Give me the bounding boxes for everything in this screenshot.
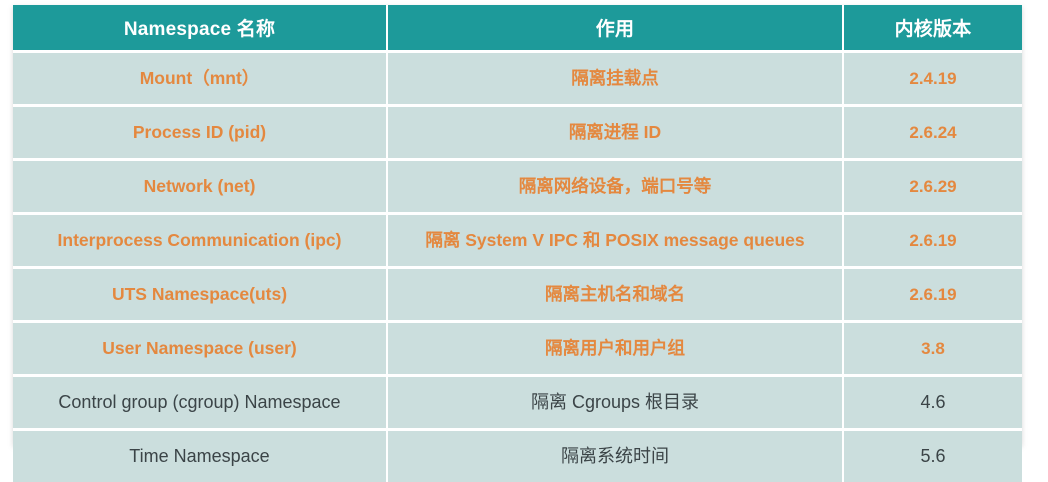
table-body: Mount（mnt） 隔离挂载点 2.4.19 Process ID (pid)… [13,50,1022,482]
cell-purpose: 隔离网络设备，端口号等 [388,158,844,212]
table-row: User Namespace (user) 隔离用户和用户组 3.8 [13,320,1022,374]
cell-kernel-version: 2.6.24 [844,104,1022,158]
header-purpose: 作用 [388,5,844,50]
cell-namespace: User Namespace (user) [13,320,388,374]
cell-purpose: 隔离用户和用户组 [388,320,844,374]
table-header: Namespace 名称 作用 内核版本 [13,5,1022,50]
cell-kernel-version: 2.6.19 [844,266,1022,320]
namespace-table: Namespace 名称 作用 内核版本 Mount（mnt） 隔离挂载点 2.… [13,5,1022,482]
table-row: UTS Namespace(uts) 隔离主机名和域名 2.6.19 [13,266,1022,320]
cell-namespace: Interprocess Communication (ipc) [13,212,388,266]
cell-purpose: 隔离进程 ID [388,104,844,158]
table-header-row: Namespace 名称 作用 内核版本 [13,5,1022,50]
cell-purpose: 隔离系统时间 [388,428,844,482]
cell-namespace: Time Namespace [13,428,388,482]
cell-namespace: Network (net) [13,158,388,212]
cell-purpose: 隔离主机名和域名 [388,266,844,320]
cell-namespace: Control group (cgroup) Namespace [13,374,388,428]
cell-kernel-version: 5.6 [844,428,1022,482]
cell-purpose: 隔离 Cgroups 根目录 [388,374,844,428]
cell-namespace: Process ID (pid) [13,104,388,158]
cell-kernel-version: 3.8 [844,320,1022,374]
header-kernel-version: 内核版本 [844,5,1022,50]
cell-kernel-version: 2.6.29 [844,158,1022,212]
table-row: Process ID (pid) 隔离进程 ID 2.6.24 [13,104,1022,158]
table-row: Network (net) 隔离网络设备，端口号等 2.6.29 [13,158,1022,212]
cell-kernel-version: 4.6 [844,374,1022,428]
cell-purpose: 隔离挂载点 [388,50,844,104]
header-namespace: Namespace 名称 [13,5,388,50]
cell-kernel-version: 2.4.19 [844,50,1022,104]
cell-namespace: Mount（mnt） [13,50,388,104]
table-row: Mount（mnt） 隔离挂载点 2.4.19 [13,50,1022,104]
table-row: Control group (cgroup) Namespace 隔离 Cgro… [13,374,1022,428]
cell-kernel-version: 2.6.19 [844,212,1022,266]
namespace-table-container: Namespace 名称 作用 内核版本 Mount（mnt） 隔离挂载点 2.… [13,5,1022,445]
table-row: Interprocess Communication (ipc) 隔离 Syst… [13,212,1022,266]
cell-namespace: UTS Namespace(uts) [13,266,388,320]
cell-purpose: 隔离 System V IPC 和 POSIX message queues [388,212,844,266]
table-row: Time Namespace 隔离系统时间 5.6 [13,428,1022,482]
